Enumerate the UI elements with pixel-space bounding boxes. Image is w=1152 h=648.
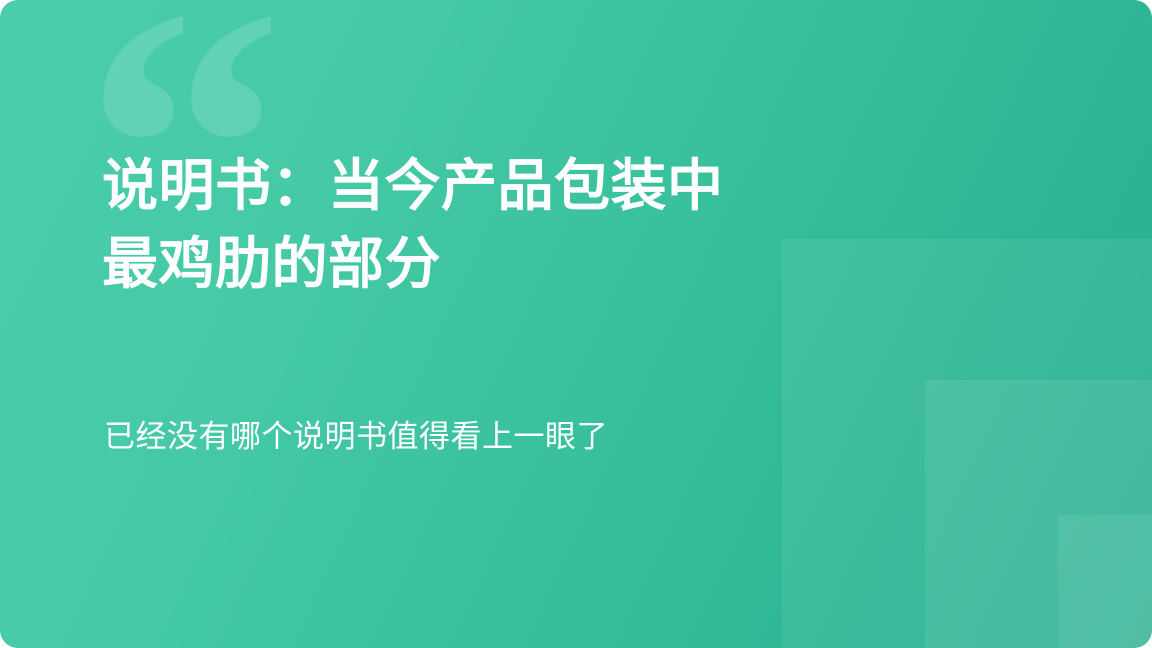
slide-canvas: “ 说明书：当今产品包装中 最鸡肋的部分 已经没有哪个说明书值得看上一眼了: [0, 0, 1152, 648]
decorative-rectangle-middle: [925, 380, 1152, 648]
slide-content: 说明书：当今产品包装中 最鸡肋的部分 已经没有哪个说明书值得看上一眼了: [102, 0, 862, 648]
slide-subtitle: 已经没有哪个说明书值得看上一眼了: [104, 414, 844, 460]
slide-title: 说明书：当今产品包装中 最鸡肋的部分: [102, 147, 842, 303]
decorative-rectangle-inner: [1058, 515, 1152, 648]
